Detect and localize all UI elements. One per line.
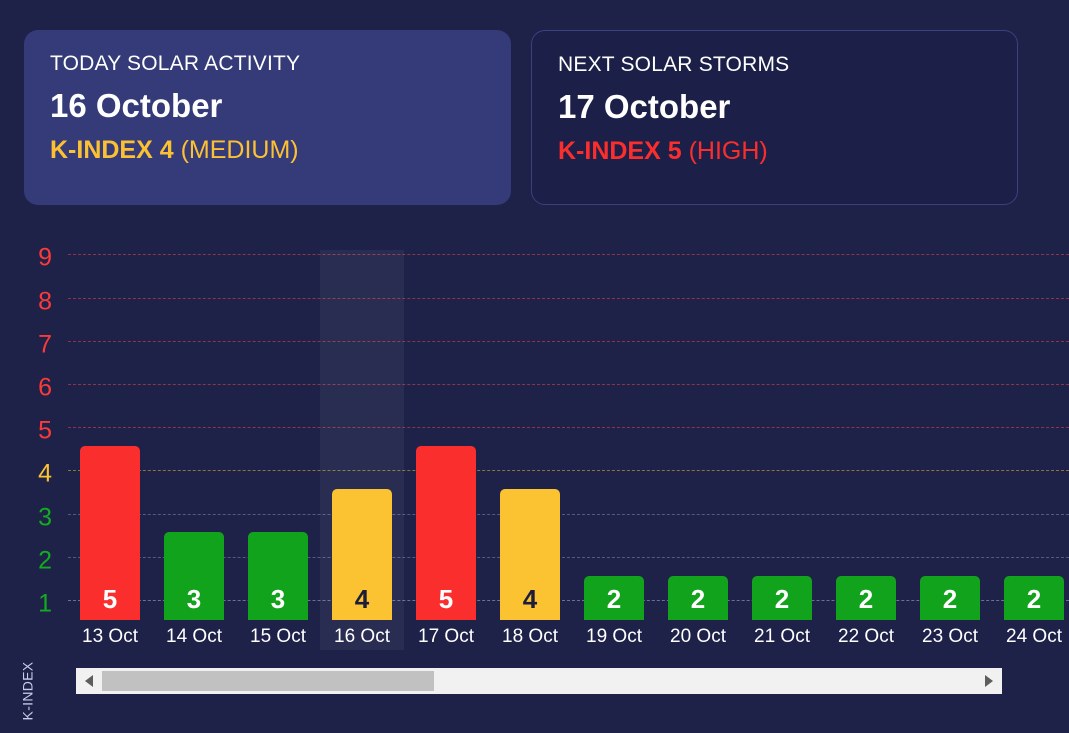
chevron-left-icon [85,675,93,687]
bar-value-label: 5 [439,586,453,620]
x-tick-23-oct: 23 Oct [908,620,992,654]
x-tick-21-oct: 21 Oct [740,620,824,654]
x-tick-20-oct: 20 Oct [656,620,740,654]
chevron-right-icon [985,675,993,687]
card-today-date: 16 October [50,87,485,125]
bar-value-label: 3 [271,586,285,620]
scroll-left-button[interactable] [76,668,102,694]
x-tick-18-oct: 18 Oct [488,620,572,654]
bar-value-label: 2 [859,586,873,620]
x-tick-14-oct: 14 Oct [152,620,236,654]
card-next-kindex: K-INDEX 5 (HIGH) [558,136,991,166]
bar-value-label: 2 [691,586,705,620]
scrollbar-track[interactable] [102,671,976,691]
bar-value-label: 2 [943,586,957,620]
bar-13-oct[interactable]: 5 [80,446,140,620]
bar-24-oct[interactable]: 2 [1004,576,1064,620]
y-tick-9: 9 [38,246,52,271]
bar-value-label: 2 [775,586,789,620]
bar-14-oct[interactable]: 3 [164,532,224,620]
card-next-date: 17 October [558,88,991,126]
bar-value-label: 3 [187,586,201,620]
card-today-solar-activity[interactable]: TODAY SOLAR ACTIVITY 16 October K-INDEX … [24,30,511,205]
card-next-kindex-value: K-INDEX 5 [558,137,682,165]
y-tick-1: 1 [38,592,52,617]
chart-bars-layer: 533454222222 [68,250,1069,650]
bar-16-oct[interactable]: 4 [332,489,392,620]
bar-18-oct[interactable]: 4 [500,489,560,620]
card-next-eyebrow: NEXT SOLAR STORMS [558,53,991,76]
y-tick-5: 5 [38,419,52,444]
x-tick-16-oct: 16 Oct [320,620,404,654]
x-tick-13-oct: 13 Oct [68,620,152,654]
bar-20-oct[interactable]: 2 [668,576,728,620]
bar-value-label: 4 [355,586,369,620]
bar-value-label: 4 [523,586,537,620]
bar-17-oct[interactable]: 5 [416,446,476,620]
y-tick-7: 7 [38,332,52,357]
x-tick-17-oct: 17 Oct [404,620,488,654]
card-today-kindex-level: (MEDIUM) [174,136,299,164]
y-tick-6: 6 [38,376,52,401]
card-next-solar-storms[interactable]: NEXT SOLAR STORMS 17 October K-INDEX 5 (… [531,30,1018,205]
bar-22-oct[interactable]: 2 [836,576,896,620]
bar-value-label: 5 [103,586,117,620]
summary-cards-row: TODAY SOLAR ACTIVITY 16 October K-INDEX … [24,30,1045,205]
x-tick-19-oct: 19 Oct [572,620,656,654]
bar-value-label: 2 [1027,586,1041,620]
card-today-eyebrow: TODAY SOLAR ACTIVITY [50,52,485,75]
card-today-kindex-value: K-INDEX 4 [50,136,174,164]
y-axis-ticks: 987654321 [0,254,70,650]
card-today-kindex: K-INDEX 4 (MEDIUM) [50,135,485,165]
y-tick-2: 2 [38,548,52,573]
bar-value-label: 2 [607,586,621,620]
x-tick-15-oct: 15 Oct [236,620,320,654]
bar-19-oct[interactable]: 2 [584,576,644,620]
card-next-kindex-level: (HIGH) [682,137,768,165]
chart-horizontal-scrollbar[interactable] [76,668,1002,694]
bar-21-oct[interactable]: 2 [752,576,812,620]
scroll-right-button[interactable] [976,668,1002,694]
bar-23-oct[interactable]: 2 [920,576,980,620]
kindex-chart: K-INDEX 987654321 533454222222 13 Oct14 … [0,230,1069,733]
scrollbar-thumb[interactable] [102,671,434,691]
y-axis-title-label: K-INDEX [19,662,35,721]
y-tick-3: 3 [38,505,52,530]
x-axis-ticks: 13 Oct14 Oct15 Oct16 Oct17 Oct18 Oct19 O… [68,620,1069,654]
y-tick-4: 4 [38,462,52,487]
x-tick-22-oct: 22 Oct [824,620,908,654]
y-tick-8: 8 [38,289,52,314]
x-tick-24-oct: 24 Oct [992,620,1069,654]
y-axis-title: K-INDEX [14,649,40,733]
bar-15-oct[interactable]: 3 [248,532,308,620]
